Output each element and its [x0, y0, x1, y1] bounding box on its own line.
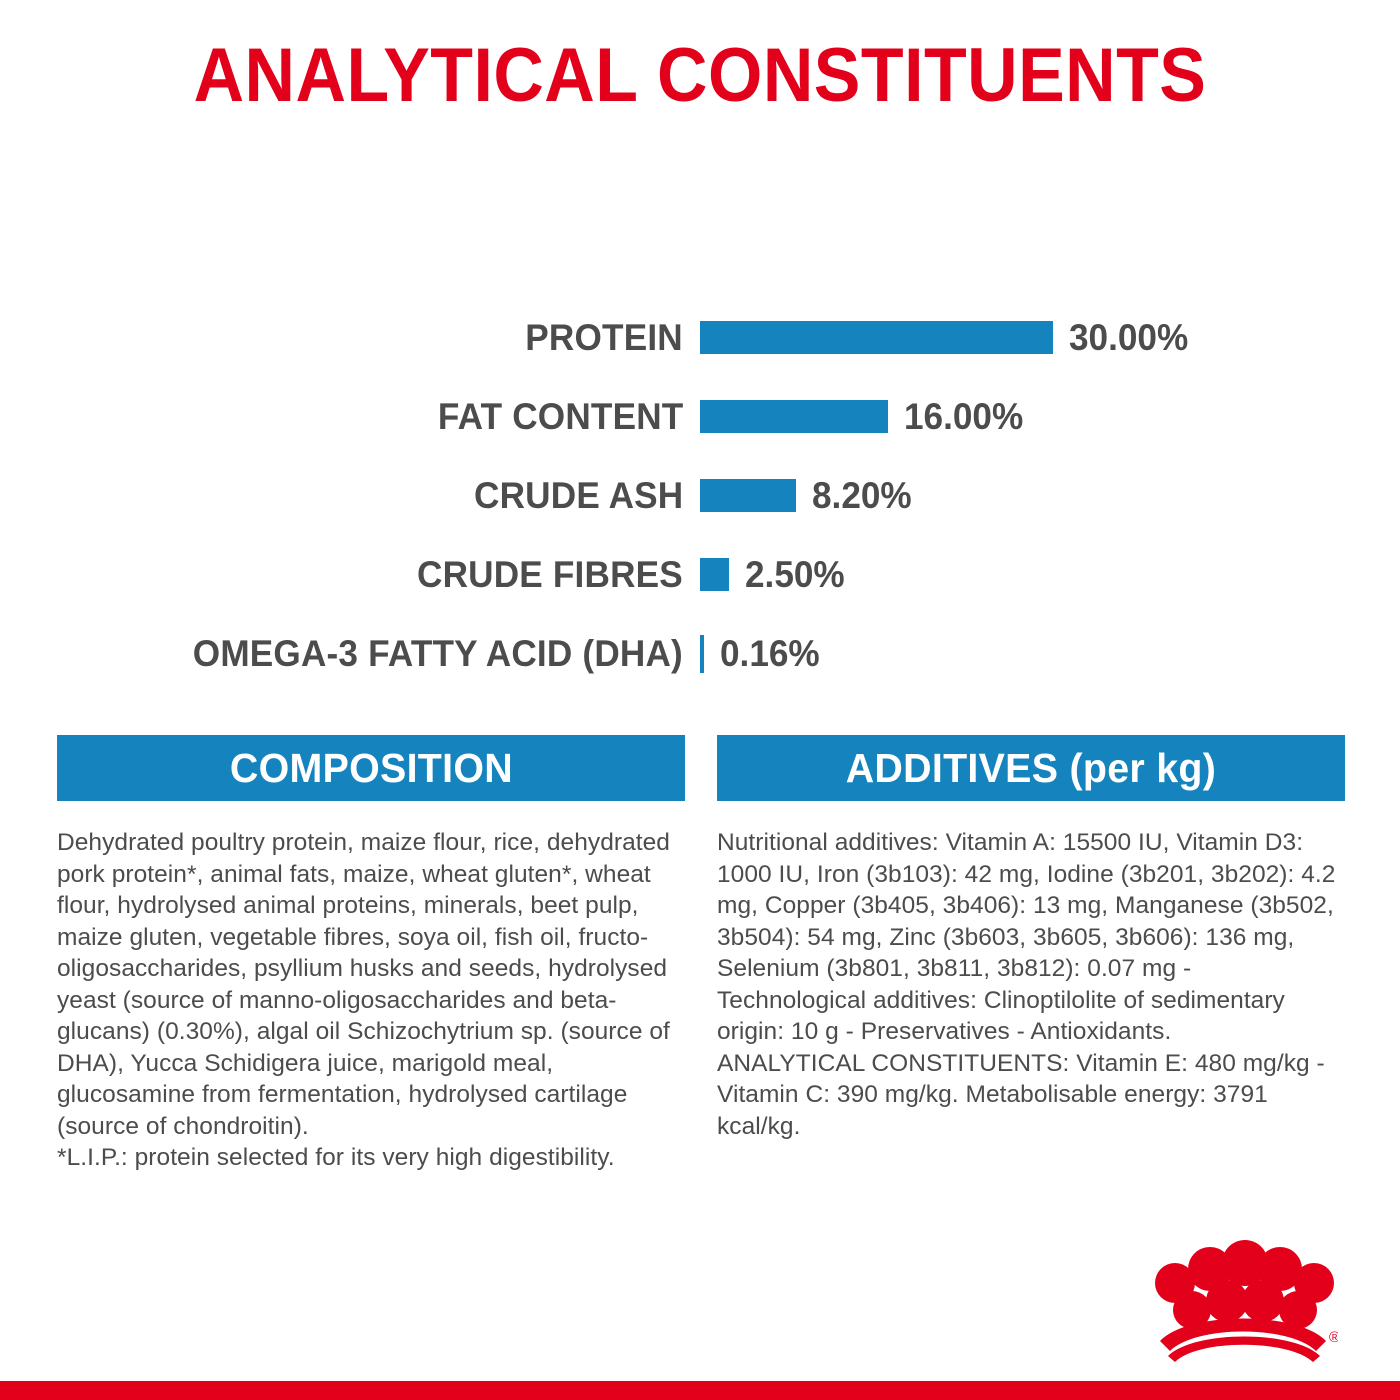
chart-bar-wrap: 16.00%	[700, 377, 1030, 456]
chart-value-crude-ash: 8.20%	[812, 475, 912, 517]
chart-value-omega-3-fatty-acid-dha: 0.16%	[720, 633, 820, 675]
chart-label-fat-content: FAT CONTENT	[437, 377, 683, 456]
chart-bar-crude-fibres	[700, 558, 729, 591]
chart-row: CRUDE FIBRES 2.50%	[0, 535, 1400, 614]
chart-label-protein: PROTEIN	[525, 298, 683, 377]
registered-mark: ®	[1329, 1329, 1338, 1346]
chart-value-fat-content: 16.00%	[904, 396, 1023, 438]
panel-header-label: ADDITIVES (per kg)	[846, 745, 1216, 792]
chart-row: FAT CONTENT 16.00%	[0, 377, 1400, 456]
chart-label-crude-ash: CRUDE ASH	[474, 456, 683, 535]
chart-bar-fat-content	[700, 400, 888, 433]
chart-row: CRUDE ASH 8.20%	[0, 456, 1400, 535]
chart-row: OMEGA-3 FATTY ACID (DHA) 0.16%	[0, 614, 1400, 693]
panel-body-composition: Dehydrated poultry protein, maize flour,…	[57, 801, 685, 1174]
chart-bar-wrap: 2.50%	[700, 535, 850, 614]
chart-label-crude-fibres: CRUDE FIBRES	[417, 535, 683, 614]
chart-row: PROTEIN 30.00%	[0, 298, 1400, 377]
chart-bar-wrap: 30.00%	[700, 298, 1195, 377]
panel-header-label: COMPOSITION	[229, 745, 512, 792]
chart-label-omega-3-fatty-acid-dha: OMEGA-3 FATTY ACID (DHA)	[193, 614, 683, 693]
info-panels: COMPOSITION Dehydrated poultry protein, …	[57, 735, 1345, 1174]
chart-bar-omega-3-fatty-acid-dha	[700, 635, 704, 673]
crown-icon: ®	[1148, 1238, 1338, 1363]
panel-additives: ADDITIVES (per kg) Nutritional additives…	[717, 735, 1345, 1174]
chart-value-protein: 30.00%	[1069, 317, 1188, 359]
page-title: ANALYTICAL CONSTITUENTS	[56, 36, 1344, 116]
analytical-constituents-chart: PROTEIN 30.00% FAT CONTENT 16.00% CRUDE …	[0, 298, 1400, 693]
panel-body-additives: Nutritional additives: Vitamin A: 15500 …	[717, 801, 1345, 1142]
panel-header-additives: ADDITIVES (per kg)	[717, 735, 1345, 801]
chart-bar-crude-ash	[700, 479, 796, 512]
panel-header-composition: COMPOSITION	[57, 735, 685, 801]
chart-value-crude-fibres: 2.50%	[745, 554, 845, 596]
chart-bar-wrap: 0.16%	[700, 614, 825, 693]
panel-composition: COMPOSITION Dehydrated poultry protein, …	[57, 735, 685, 1174]
chart-bar-wrap: 8.20%	[700, 456, 917, 535]
royal-canin-crown-logo: ®	[1148, 1238, 1338, 1363]
bottom-accent-bar	[0, 1381, 1400, 1400]
chart-bar-protein	[700, 321, 1053, 354]
